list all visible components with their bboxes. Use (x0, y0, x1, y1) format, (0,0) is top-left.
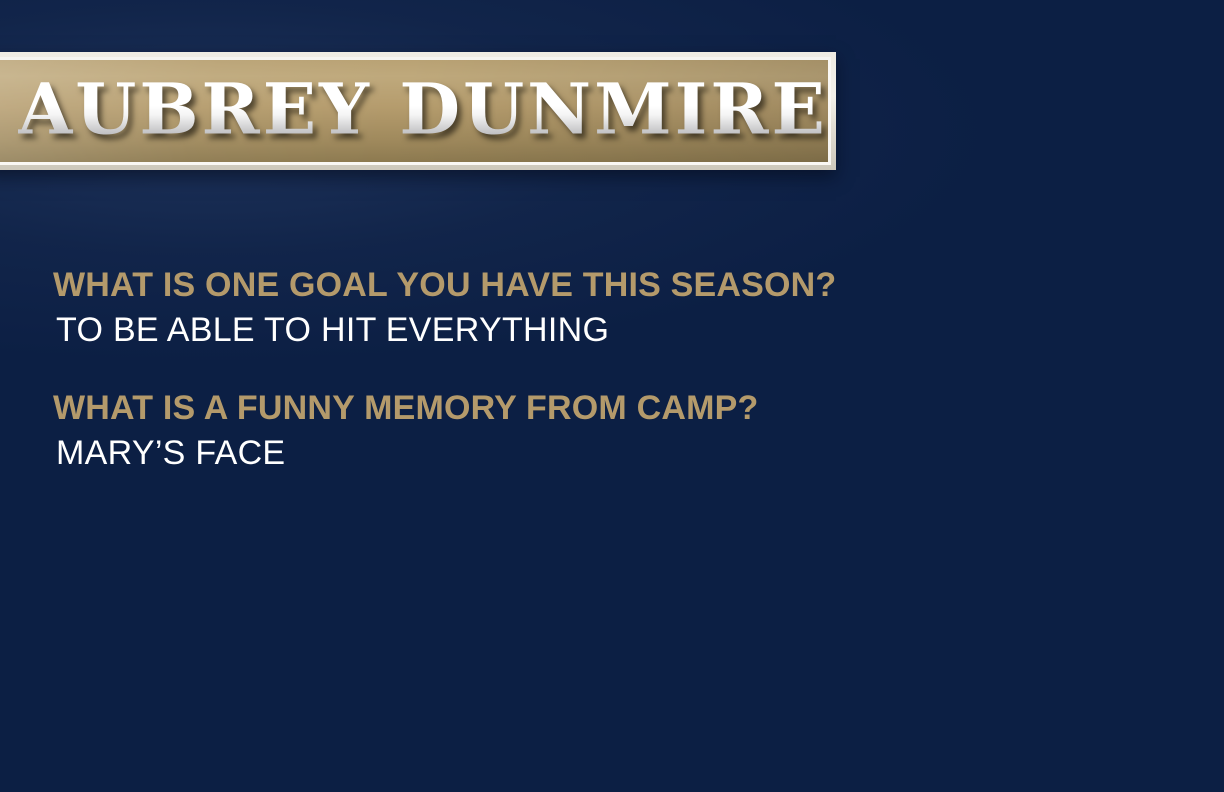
qa-question-label: WHAT IS ONE GOAL YOU HAVE THIS SEASON? (53, 266, 1133, 305)
qa-item: WHAT IS ONE GOAL YOU HAVE THIS SEASON? T… (53, 266, 1133, 351)
qa-answer-text: TO BE ABLE TO HIT EVERYTHING (56, 310, 1133, 350)
nameplate-gold-panel: AUBREY DUNMIRE (0, 57, 831, 165)
athlete-nameplate-banner: AUBREY DUNMIRE (0, 52, 836, 170)
qa-answer-text: MARY’S FACE (56, 433, 1133, 473)
athlete-name: AUBREY DUNMIRE (18, 75, 828, 145)
qa-question-label: WHAT IS A FUNNY MEMORY FROM CAMP? (53, 389, 1133, 428)
qa-item: WHAT IS A FUNNY MEMORY FROM CAMP? MARY’S… (53, 389, 1133, 474)
question-answer-list: WHAT IS ONE GOAL YOU HAVE THIS SEASON? T… (53, 266, 1133, 473)
athlete-profile-slide: AUBREY DUNMIRE WHAT IS ONE GOAL YOU HAVE… (0, 0, 1224, 792)
